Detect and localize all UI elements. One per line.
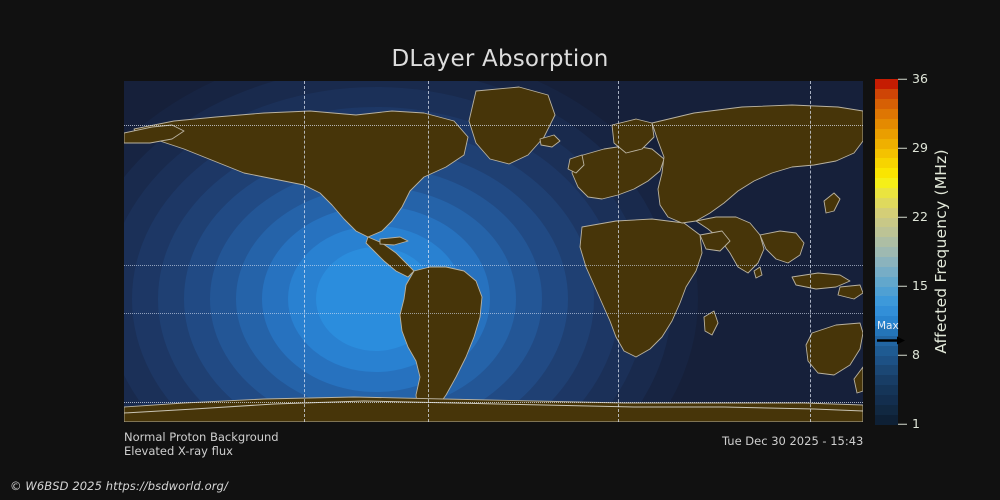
- colorbar-band: [875, 128, 898, 138]
- colorbar-band: [875, 365, 898, 375]
- colorbar-band: [875, 197, 898, 207]
- colorbar-band: [875, 296, 898, 306]
- colorbar-band: [875, 99, 898, 109]
- right-arrow-icon: [877, 336, 905, 345]
- colorbar-band: [875, 79, 898, 89]
- colorbar-band: [875, 266, 898, 276]
- colorbar-band: [875, 237, 898, 247]
- colorbar-band: [875, 227, 898, 237]
- map-canvas: [124, 81, 863, 422]
- colorbar-band: [875, 148, 898, 158]
- colorbar-band: [875, 138, 898, 148]
- colorbar-band: [875, 306, 898, 316]
- colorbar-axis-label: Affected Frequency (MHz): [929, 79, 952, 424]
- colorbar-tick: 8: [898, 349, 920, 362]
- colorbar-tick-mark: [898, 148, 907, 149]
- colorbar-band: [875, 207, 898, 217]
- colorbar-tick-mark: [898, 355, 907, 356]
- colorbar-tick-mark: [898, 217, 907, 218]
- colorbar-band: [875, 247, 898, 257]
- proton-status-text: Normal Proton Background: [124, 430, 279, 444]
- colorbar-band: [875, 178, 898, 188]
- colorbar-band: [875, 404, 898, 414]
- colorbar-band: [875, 187, 898, 197]
- colorbar-tick-mark: [898, 79, 907, 80]
- affected-frequency-colorbar[interactable]: [875, 79, 898, 424]
- colorbar-tick-label: 22: [912, 211, 928, 224]
- colorbar-band: [875, 355, 898, 365]
- colorbar-tick: 22: [898, 211, 928, 224]
- colorbar-band: [875, 375, 898, 385]
- colorbar-max-label: Max: [877, 321, 899, 332]
- colorbar-tick: 36: [898, 73, 928, 86]
- page-root: DLayer Absorption: [0, 0, 1000, 500]
- copyright-footer: © W6BSD 2025 https://bsdworld.org/: [10, 479, 228, 493]
- colorbar-tick-label: 1: [912, 418, 920, 431]
- colorbar-tick: 29: [898, 142, 928, 155]
- colorbar-max-marker: Max: [876, 321, 916, 347]
- colorbar-tick-label: 29: [912, 142, 928, 155]
- colorbar-band: [875, 385, 898, 395]
- map-clip: [124, 81, 863, 422]
- xray-status-text: Elevated X-ray flux: [124, 444, 233, 458]
- colorbar-band: [875, 158, 898, 168]
- colorbar-tick-label: 8: [912, 349, 920, 362]
- page-title: DLayer Absorption: [0, 46, 1000, 72]
- colorbar-tick: 15: [898, 280, 928, 293]
- colorbar-tick-label: 36: [912, 73, 928, 86]
- colorbar-tick-mark: [898, 286, 907, 287]
- colorbar-band: [875, 118, 898, 128]
- colorbar-band: [875, 89, 898, 99]
- world-map-panel[interactable]: [124, 81, 863, 422]
- colorbar-band: [875, 394, 898, 404]
- colorbar-band: [875, 256, 898, 266]
- colorbar-tick-label: 15: [912, 280, 928, 293]
- colorbar-band: [875, 168, 898, 178]
- colorbar-band: [875, 217, 898, 227]
- colorbar-tick: 1: [898, 418, 920, 431]
- colorbar-band: [875, 109, 898, 119]
- colorbar-tick-mark: [898, 424, 907, 425]
- colorbar-band: [875, 276, 898, 286]
- colorbar-band: [875, 414, 898, 424]
- timestamp-text: Tue Dec 30 2025 - 15:43: [722, 434, 863, 448]
- colorbar-band: [875, 286, 898, 296]
